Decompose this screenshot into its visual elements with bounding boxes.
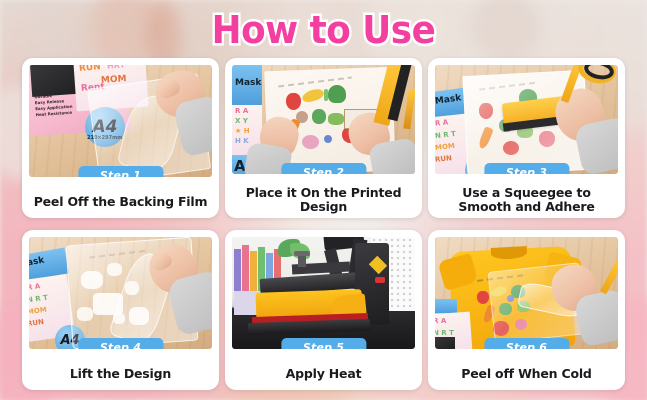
step-6-badge: Step 6 bbox=[484, 338, 569, 349]
steps-grid: DurableEasy ReleaseEasy ApplicationHeat … bbox=[22, 58, 625, 390]
step-card-4[interactable]: ask R A N R T MOM RUN A4 Step 4 Lift the… bbox=[22, 230, 219, 390]
step-card-3[interactable]: Mask R A N R T MOM RUN A4 bbox=[428, 58, 625, 218]
step-6-caption: Peel off When Cold bbox=[435, 349, 618, 390]
step-5-caption: Apply Heat bbox=[232, 349, 415, 390]
step-card-5[interactable]: Step 5 Apply Heat bbox=[225, 230, 422, 390]
step-card-6[interactable]: R A N R T Step 6 Peel off When Cold bbox=[428, 230, 625, 390]
step-4-badge: Step 4 bbox=[78, 338, 163, 349]
step-2-caption: Place it On the Printed Design bbox=[232, 174, 415, 218]
step-1-photo: DurableEasy ReleaseEasy ApplicationHeat … bbox=[29, 65, 212, 177]
step-4-caption: Lift the Design bbox=[29, 349, 212, 390]
step-card-2[interactable]: Mask R A X Y ★ H H K A4 bbox=[225, 58, 422, 218]
step-3-photo: Mask R A N R T MOM RUN A4 bbox=[435, 65, 618, 174]
step-card-1[interactable]: DurableEasy ReleaseEasy ApplicationHeat … bbox=[22, 58, 219, 218]
step-1-badge: Step 1 bbox=[78, 166, 163, 177]
step-2-photo: Mask R A X Y ★ H H K A4 bbox=[232, 65, 415, 174]
step-2-badge: Step 2 bbox=[281, 163, 366, 174]
page-title: How to Use bbox=[19, 6, 627, 54]
step-1-caption: Peel Off the Backing Film bbox=[29, 177, 212, 218]
step-3-caption: Use a Squeegee to Smooth and Adhere bbox=[435, 174, 618, 218]
step-3-badge: Step 3 bbox=[484, 163, 569, 174]
step-5-badge: Step 5 bbox=[281, 338, 366, 349]
step-5-photo: Step 5 bbox=[232, 237, 415, 349]
step-6-photo: R A N R T Step 6 bbox=[435, 237, 618, 349]
step-4-photo: ask R A N R T MOM RUN A4 Step 4 bbox=[29, 237, 212, 349]
